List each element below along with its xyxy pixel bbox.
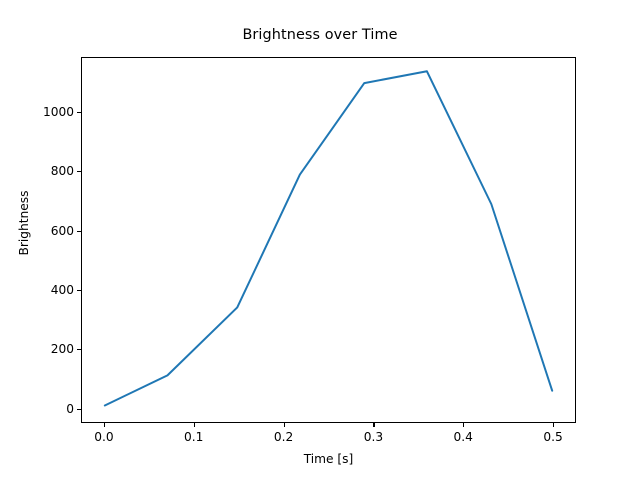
x-tick-mark (104, 423, 105, 427)
y-tick-label: 200 (51, 342, 74, 356)
x-tick-label: 0.4 (454, 430, 473, 444)
line-series-brightness (105, 71, 552, 405)
y-tick-label: 0 (66, 402, 74, 416)
y-tick-mark (77, 112, 81, 113)
y-tick-label: 800 (51, 164, 74, 178)
y-tick-label: 1000 (43, 105, 74, 119)
x-axis-tick-labels: 0.00.10.20.30.40.5 (0, 430, 640, 448)
x-tick-mark (194, 423, 195, 427)
plot-area (81, 57, 576, 423)
line-series-svg (82, 58, 575, 422)
x-tick-label: 0.2 (274, 430, 293, 444)
y-axis-label: Brightness (17, 163, 31, 283)
x-tick-mark (373, 423, 374, 427)
x-tick-mark (553, 423, 554, 427)
y-tick-label: 400 (51, 283, 74, 297)
x-tick-mark (284, 423, 285, 427)
x-axis-label: Time [s] (81, 452, 576, 466)
chart-title: Brightness over Time (0, 27, 640, 43)
x-tick-mark (463, 423, 464, 427)
x-tick-label: 0.3 (364, 430, 383, 444)
y-tick-mark (77, 290, 81, 291)
y-tick-label: 600 (51, 224, 74, 238)
y-tick-mark (77, 409, 81, 410)
y-axis-tick-labels: 02004006008001000 (28, 57, 74, 423)
y-tick-mark (77, 171, 81, 172)
chart-figure: Brightness over Time 02004006008001000 0… (0, 0, 640, 480)
x-tick-label: 0.5 (543, 430, 562, 444)
x-tick-label: 0.0 (94, 430, 113, 444)
x-tick-label: 0.1 (184, 430, 203, 444)
y-tick-mark (77, 231, 81, 232)
y-tick-mark (77, 349, 81, 350)
